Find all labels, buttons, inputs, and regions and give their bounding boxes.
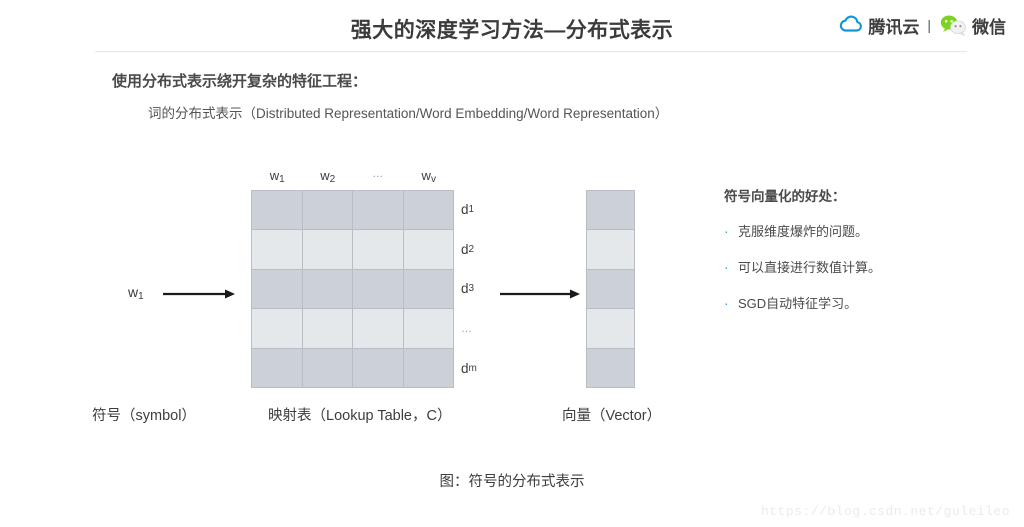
matrix-cell xyxy=(303,230,354,268)
input-symbol-label: w1 xyxy=(128,284,144,302)
input-symbol-subscript: 1 xyxy=(138,291,144,302)
benefits-panel: 符号向量化的好处： · 克服维度爆炸的问题。 · 可以直接进行数值计算。 · S… xyxy=(724,185,974,329)
matrix-cell xyxy=(353,270,404,308)
arrow-right-icon-input xyxy=(163,288,235,300)
bullet-dot-icon: · xyxy=(724,260,738,274)
matrix-cell xyxy=(252,270,303,308)
figure-caption: 图：符号的分布式表示 xyxy=(0,470,1024,491)
column-header-sub: 2 xyxy=(330,174,336,185)
table-row xyxy=(252,191,453,230)
vector-cell xyxy=(587,349,634,387)
vector-cell xyxy=(587,309,634,348)
row-label-sub: 3 xyxy=(469,283,475,294)
row-label: dm xyxy=(461,348,501,388)
column-header-ellipsis: … xyxy=(353,168,404,185)
caption-symbol: 符号（symbol） xyxy=(92,404,196,425)
row-label: d2 xyxy=(461,230,501,270)
caption-vector: 向量（Vector） xyxy=(562,404,661,425)
column-header-sub: v xyxy=(431,174,436,185)
row-label-base: d xyxy=(461,281,469,296)
matrix-cell xyxy=(353,191,404,229)
vector-column xyxy=(586,190,635,388)
caption-lookup-table: 映射表（Lookup Table，C） xyxy=(268,404,451,425)
matrix-column-headers: w1 w2 … wv xyxy=(252,168,454,185)
row-label-base: d xyxy=(461,242,469,257)
watermark: https://blog.csdn.net/guleileo xyxy=(761,504,1010,519)
matrix-cell xyxy=(353,349,404,387)
table-row xyxy=(252,309,453,348)
matrix-row-labels: d1 d2 d3 … dm xyxy=(461,190,501,388)
table-row xyxy=(252,349,453,387)
column-header-sub: 1 xyxy=(279,174,285,185)
row-label-base: d xyxy=(461,202,469,217)
matrix-cell xyxy=(303,191,354,229)
row-label: d1 xyxy=(461,190,501,230)
matrix-cell xyxy=(252,191,303,229)
vector-cell xyxy=(587,191,634,230)
vector-cell xyxy=(587,230,634,269)
row-label-sub: m xyxy=(469,363,477,374)
column-header-base: w xyxy=(320,168,329,183)
matrix-cell xyxy=(252,230,303,268)
matrix-cell xyxy=(404,309,454,347)
matrix-cell xyxy=(404,230,454,268)
row-label: d3 xyxy=(461,269,501,309)
table-row xyxy=(252,230,453,269)
row-label-sub: 2 xyxy=(469,244,475,255)
column-header-base: w xyxy=(422,168,431,183)
row-label-ellipsis: … xyxy=(461,309,501,349)
matrix-cell xyxy=(353,230,404,268)
bullet-dot-icon: · xyxy=(724,224,738,238)
benefit-text: 克服维度爆炸的问题。 xyxy=(738,221,868,240)
list-item: · 克服维度爆炸的问题。 xyxy=(724,221,974,240)
table-row xyxy=(252,270,453,309)
row-label-base: d xyxy=(461,361,469,376)
matrix-cell xyxy=(353,309,404,347)
matrix-cell xyxy=(252,349,303,387)
matrix-cell xyxy=(404,349,454,387)
vector-cell xyxy=(587,270,634,309)
matrix-cell xyxy=(404,191,454,229)
matrix-cell xyxy=(303,349,354,387)
arrow-right-icon-output xyxy=(500,288,580,300)
lookup-table-matrix xyxy=(251,190,454,388)
column-header: w2 xyxy=(303,168,354,185)
matrix-cell xyxy=(252,309,303,347)
column-header: wv xyxy=(404,168,455,185)
input-symbol-base: w xyxy=(128,284,138,300)
column-header-base: w xyxy=(270,168,279,183)
matrix-cell xyxy=(303,309,354,347)
list-item: · SGD自动特征学习。 xyxy=(724,293,974,312)
benefits-title: 符号向量化的好处： xyxy=(724,185,974,205)
benefit-text: SGD自动特征学习。 xyxy=(738,293,857,312)
list-item: · 可以直接进行数值计算。 xyxy=(724,257,974,276)
row-label-sub: 1 xyxy=(469,204,475,215)
matrix-cell xyxy=(303,270,354,308)
bullet-dot-icon: · xyxy=(724,296,738,310)
column-header: w1 xyxy=(252,168,303,185)
benefit-text: 可以直接进行数值计算。 xyxy=(738,257,881,276)
matrix-cell xyxy=(404,270,454,308)
